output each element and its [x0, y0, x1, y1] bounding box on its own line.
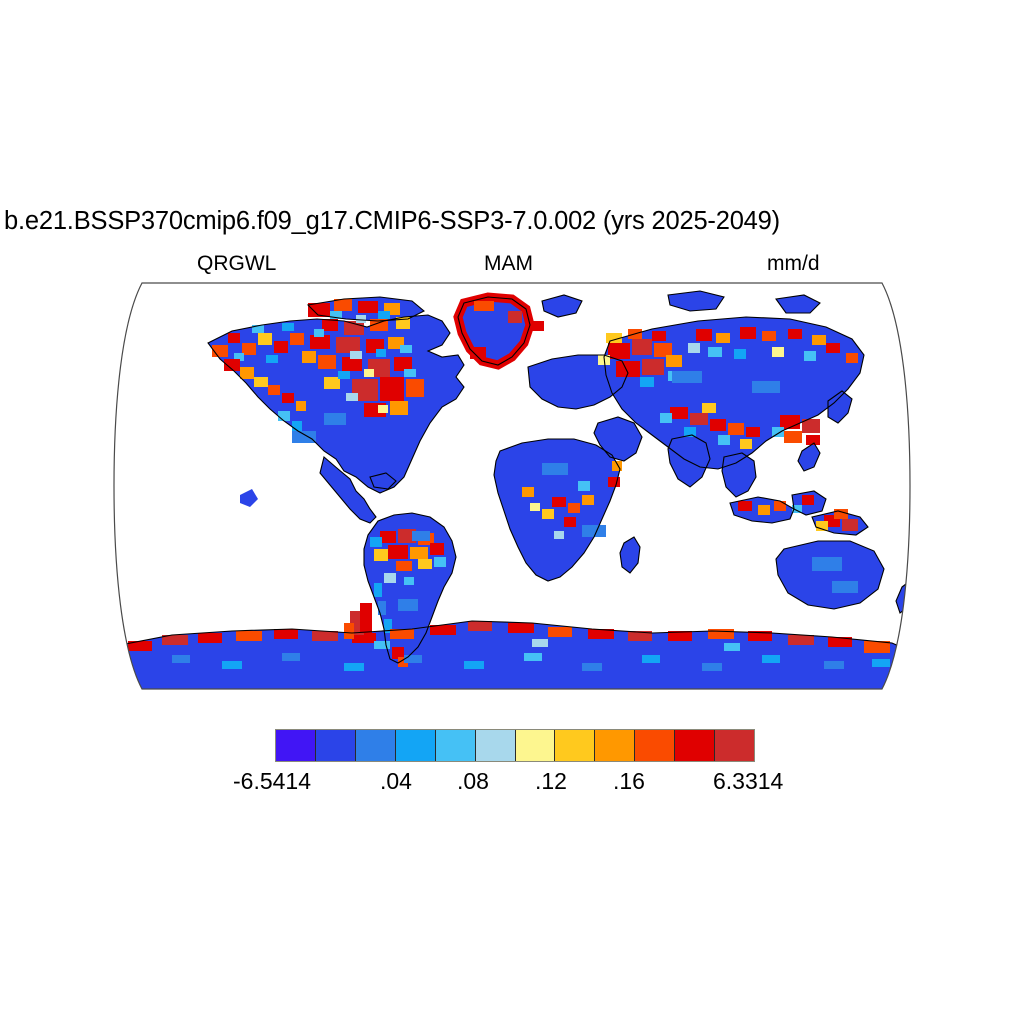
colorbar-label-5: .16: [613, 768, 645, 795]
colorbar-cell-1[interactable]: [276, 730, 316, 761]
colorbar-label-3: .08: [457, 768, 489, 795]
colorbar-cell-12[interactable]: [715, 730, 754, 761]
colorbar[interactable]: [275, 729, 755, 762]
colorbar-cell-2[interactable]: [316, 730, 356, 761]
colorbar-tick-labels: -6.5414.04.08.12.166.3314: [225, 768, 805, 798]
colorbar-cell-7[interactable]: [516, 730, 556, 761]
page-title: b.e21.BSSP370cmip6.f09_g17.CMIP6-SSP3-7.…: [4, 206, 780, 236]
world-map: [112, 281, 912, 691]
climate-map-figure: b.e21.BSSP370cmip6.f09_g17.CMIP6-SSP3-7.…: [0, 0, 1024, 1024]
colorbar-cell-10[interactable]: [635, 730, 675, 761]
colorbar-label-1: -6.5414: [233, 768, 311, 795]
colorbar-cell-5[interactable]: [436, 730, 476, 761]
colorbar-cell-3[interactable]: [356, 730, 396, 761]
variable-label: QRGWL: [197, 252, 276, 276]
season-label: MAM: [484, 252, 533, 276]
colorbar-cell-11[interactable]: [675, 730, 715, 761]
map-svg: [112, 281, 912, 691]
colorbar-label-6: 6.3314: [713, 768, 783, 795]
colorbar-cell-9[interactable]: [595, 730, 635, 761]
colorbar-cell-8[interactable]: [555, 730, 595, 761]
colorbar-cell-4[interactable]: [396, 730, 436, 761]
colorbar-label-2: .04: [380, 768, 412, 795]
units-label: mm/d: [767, 252, 820, 276]
colorbar-cell-6[interactable]: [476, 730, 516, 761]
colorbar-label-4: .12: [535, 768, 567, 795]
